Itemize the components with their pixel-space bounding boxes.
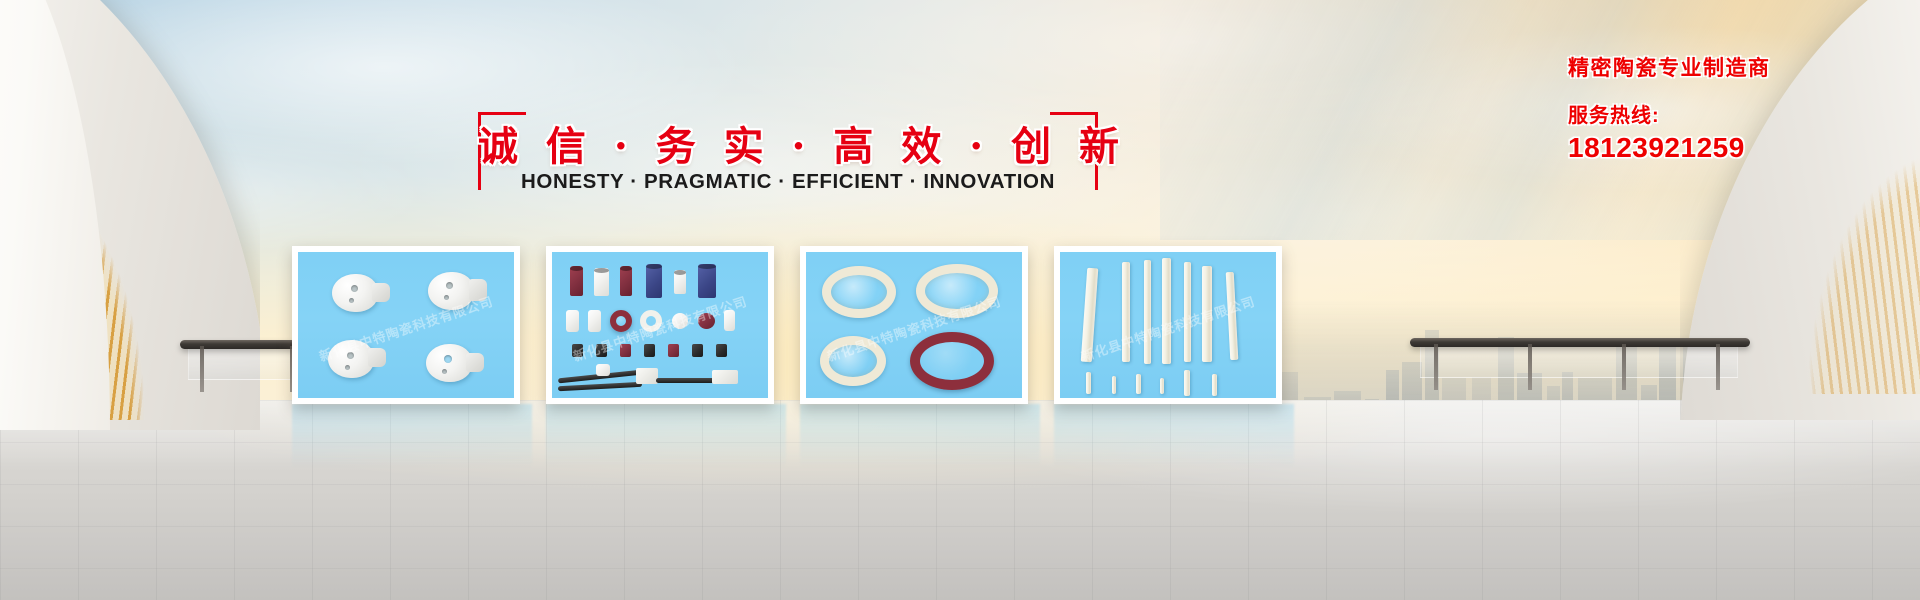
contact-info-block: 精密陶瓷专业制造商 服务热线: 18123921259 — [1568, 52, 1898, 164]
product-panel-4[interactable]: 新化县中特陶瓷科技有限公司 — [1054, 246, 1282, 404]
product-image-2: 新化县中特陶瓷科技有限公司 — [552, 252, 768, 398]
hotline-label: 服务热线: — [1568, 99, 1898, 128]
product-image-3: 新化县中特陶瓷科技有限公司 — [806, 252, 1022, 398]
panel-reflection — [292, 404, 532, 468]
product-panel-1[interactable]: 新化县中特陶瓷科技有限公司 — [292, 246, 520, 404]
promo-banner: 诚 信 · 务 实 · 高 效 · 创 新 HONESTY · PRAGMATI… — [0, 0, 1920, 600]
product-gallery: 新化县中特陶瓷科技有限公司 — [292, 246, 1292, 404]
slogan-chinese: 诚 信 · 务 实 · 高 效 · 创 新 — [478, 114, 1098, 172]
product-image-1: 新化县中特陶瓷科技有限公司 — [298, 252, 514, 398]
product-panel-2[interactable]: 新化县中特陶瓷科技有限公司 — [546, 246, 774, 404]
panel-reflection — [800, 404, 1040, 468]
product-panel-3[interactable]: 新化县中特陶瓷科技有限公司 — [800, 246, 1028, 404]
panel-reflection — [1054, 404, 1294, 468]
company-tagline: 精密陶瓷专业制造商 — [1568, 52, 1898, 82]
slogan-block: 诚 信 · 务 实 · 高 效 · 创 新 HONESTY · PRAGMATI… — [478, 112, 1098, 210]
panel-reflection — [546, 404, 786, 468]
hotline-phone-number[interactable]: 18123921259 — [1568, 132, 1898, 164]
product-image-4: 新化县中特陶瓷科技有限公司 — [1060, 252, 1276, 398]
slogan-english: HONESTY · PRAGMATIC · EFFICIENT · INNOVA… — [478, 170, 1098, 194]
